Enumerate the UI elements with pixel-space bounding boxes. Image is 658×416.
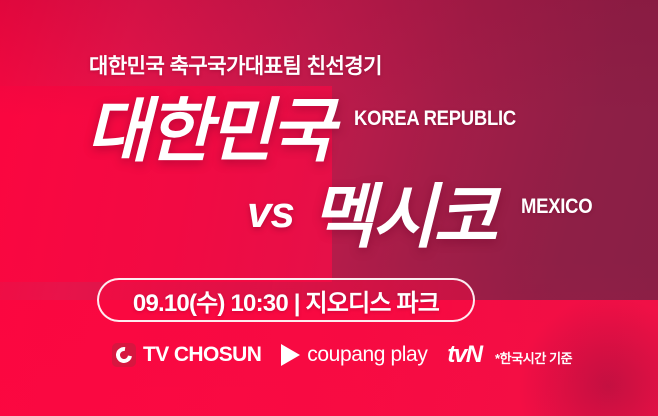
team-row-korea: 대한민국 KOREA REPUBLIC bbox=[86, 96, 538, 166]
team-row-mexico: vs 멕시코 MEXICO bbox=[247, 182, 602, 252]
broadcaster-tvn: tvN bbox=[447, 341, 481, 369]
poster-content: 대한민국 축구국가대표팀 친선경기 대한민국 KOREA REPUBLIC vs… bbox=[0, 0, 658, 416]
event-kicker: 대한민국 축구국가대표팀 친선경기 bbox=[89, 50, 382, 80]
vs-label: vs bbox=[247, 188, 294, 238]
match-info-text: 09.10(수) 10:30 | 지오디스 파크 bbox=[133, 283, 439, 318]
match-info-pill: 09.10(수) 10:30 | 지오디스 파크 bbox=[97, 278, 475, 322]
broadcaster-name: coupang play bbox=[307, 343, 427, 367]
team-name-english: MEXICO bbox=[521, 195, 592, 219]
broadcaster-list: TV CHOSUN coupang play tvN bbox=[112, 341, 482, 369]
team-name-english: KOREA REPUBLIC bbox=[354, 107, 516, 131]
broadcaster-name: TV CHOSUN bbox=[143, 343, 261, 367]
timezone-footnote: *한국시간 기준 bbox=[495, 348, 572, 367]
team-name-korean: 멕시코 bbox=[310, 182, 494, 252]
chosun-c-mark-icon bbox=[112, 343, 136, 367]
team-name-korean: 대한민국 bbox=[86, 96, 332, 166]
match-promo-poster: 대한민국 축구국가대표팀 친선경기 대한민국 KOREA REPUBLIC vs… bbox=[0, 0, 658, 416]
broadcaster-tv-chosun: TV CHOSUN bbox=[112, 343, 261, 367]
broadcaster-name: tvN bbox=[447, 341, 481, 369]
play-triangle-icon bbox=[281, 344, 300, 366]
broadcaster-coupang-play: coupang play bbox=[281, 343, 427, 367]
